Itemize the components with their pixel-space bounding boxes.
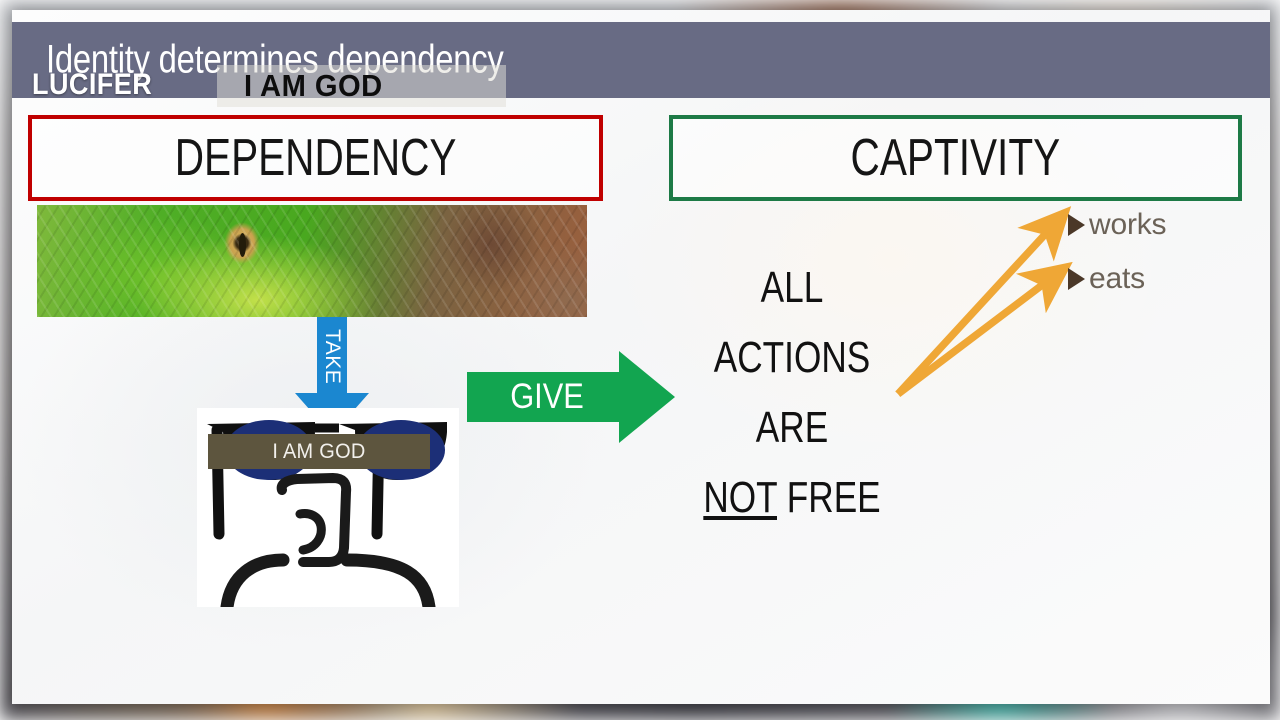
- statement-line-1: ALL: [692, 253, 892, 323]
- snake-photo: [37, 205, 587, 317]
- triangle-right-icon: [1068, 268, 1085, 290]
- snake-scale-texture: [37, 205, 587, 317]
- person-claim-label: I AM GOD: [214, 434, 425, 469]
- triangle-right-icon: [1068, 214, 1085, 236]
- statement-block: ALL ACTIONS ARE NOT FREE: [667, 253, 917, 533]
- snake-eye-icon: [239, 233, 246, 257]
- bullet-label-eats: eats: [1089, 262, 1145, 296]
- lucifer-claim-label: I AM GOD: [244, 68, 383, 104]
- statement-line-3: ARE: [692, 393, 892, 463]
- slide-canvas: Identity determines dependency DEPENDENC…: [12, 10, 1270, 704]
- lucifer-label: LUCIFER: [32, 68, 152, 102]
- statement-emphasis: NOT: [703, 473, 777, 522]
- captivity-header-box: CAPTIVITY: [669, 115, 1242, 201]
- dependency-header-label: DEPENDENCY: [175, 128, 457, 188]
- take-arrow-label: TAKE: [295, 317, 369, 397]
- give-arrow-label: GIVE: [477, 351, 618, 443]
- statement-line-4: NOT FREE: [692, 463, 892, 533]
- statement-line-4-rest: FREE: [777, 473, 881, 522]
- statement-line-2: ACTIONS: [692, 323, 892, 393]
- list-item[interactable]: eats: [1068, 262, 1145, 296]
- dependency-header-box: DEPENDENCY: [28, 115, 603, 201]
- captivity-header-label: CAPTIVITY: [851, 128, 1061, 188]
- slide-title-bar: Identity determines dependency: [12, 22, 1270, 98]
- orange-arrows-icon: [890, 202, 1085, 402]
- list-item[interactable]: works: [1068, 208, 1166, 242]
- bullet-label-works: works: [1089, 208, 1166, 242]
